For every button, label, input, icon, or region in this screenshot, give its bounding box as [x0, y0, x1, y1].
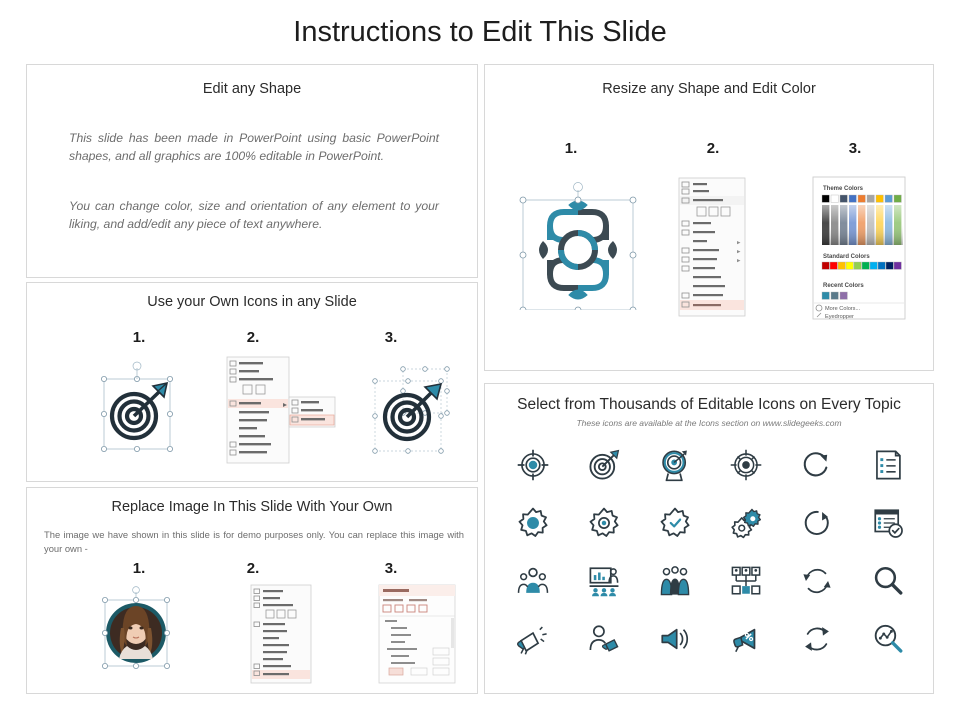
person-megaphone-icon[interactable] — [587, 622, 621, 656]
panel-use-own-icons: Use your Own Icons in any Slide 1. 2. 3. — [26, 282, 478, 482]
replace-image-step-1-number: 1. — [89, 560, 189, 577]
format-picture-pane-illustration — [371, 582, 463, 686]
org-chart-icon[interactable] — [729, 564, 763, 598]
refresh-arrow-icon[interactable] — [800, 448, 834, 482]
edit-shape-paragraph-1: This slide has been made in PowerPoint u… — [69, 129, 439, 166]
panel-icons-library: Select from Thousands of Editable Icons … — [484, 383, 934, 694]
panel-replace-image: Replace Image In This Slide With Your Ow… — [26, 487, 478, 694]
own-icons-step-3-number: 3. — [341, 329, 441, 346]
magnifier-chart-icon[interactable] — [871, 622, 905, 656]
context-menu-group-illustration — [223, 353, 341, 471]
sync-arrows-icon[interactable] — [800, 564, 834, 598]
target-stand-icon[interactable] — [658, 448, 692, 482]
svg-text:Standard Colors: Standard Colors — [823, 254, 870, 260]
panel-resize-shape-edit-color: Resize any Shape and Edit Color 1. 2. 3. — [484, 64, 934, 371]
crosshair-target-icon[interactable] — [729, 448, 763, 482]
svg-text:Recent Colors: Recent Colors — [823, 283, 864, 289]
own-icons-shot-selected-target — [79, 359, 197, 469]
resize-step-3-number: 3. — [805, 140, 905, 157]
gears-pair-icon[interactable] — [729, 506, 763, 540]
megaphone-percent-icon[interactable] — [729, 622, 763, 656]
refresh-circle-icon[interactable] — [800, 622, 834, 656]
context-menu-format-picture-illustration — [233, 582, 325, 686]
own-icons-step-1-number: 1. — [89, 329, 189, 346]
replace-image-shot-context-menu — [233, 582, 325, 686]
target-icon-selected-illustration — [79, 359, 197, 469]
resize-step-1-number: 1. — [521, 140, 621, 157]
resize-step-2-number: 2. — [663, 140, 763, 157]
portrait-photo-selected-illustration — [83, 584, 195, 684]
dartboard-arrow-icon[interactable] — [587, 448, 621, 482]
panel-subtitle-icons-library: These icons are available at the Icons s… — [485, 418, 933, 428]
svg-text:Theme Colors: Theme Colors — [823, 186, 864, 192]
own-icons-shot-ungrouped-target — [357, 359, 475, 469]
resize-shot-context-menu — [671, 174, 757, 320]
panel-title-resize-shape: Resize any Shape and Edit Color — [485, 81, 933, 97]
page-title: Instructions to Edit This Slide — [0, 16, 960, 49]
panel-edit-any-shape: Edit any Shape This slide has been made … — [26, 64, 478, 278]
svg-text:More Colors...: More Colors... — [825, 306, 861, 312]
svg-text:Eyedropper: Eyedropper — [825, 314, 854, 320]
panel-title-replace-image: Replace Image In This Slide With Your Ow… — [27, 499, 477, 515]
people-three-icon[interactable] — [658, 564, 692, 598]
replace-image-shot-format-pane — [371, 582, 463, 686]
context-menu-format-shape-illustration — [671, 174, 757, 320]
own-icons-step-2-number: 2. — [203, 329, 303, 346]
shape-selection-handles-illustration — [507, 176, 651, 310]
replace-image-step-3-number: 3. — [341, 560, 441, 577]
icons-grid — [497, 436, 923, 668]
target-icon-ungrouped-illustration — [357, 359, 475, 469]
gear-filled-icon[interactable] — [516, 506, 550, 540]
megaphone-icon[interactable] — [516, 622, 550, 656]
edit-shape-paragraph-2: You can change color, size and orientati… — [69, 197, 439, 234]
replace-image-note: The image we have shown in this slide is… — [44, 528, 464, 555]
checklist-check-icon[interactable] — [871, 506, 905, 540]
speaker-sound-icon[interactable] — [658, 622, 692, 656]
gear-check-icon[interactable] — [658, 506, 692, 540]
resize-shot-shape-handles — [507, 176, 651, 310]
replace-image-step-2-number: 2. — [203, 560, 303, 577]
checklist-icon[interactable] — [871, 448, 905, 482]
magnifier-icon[interactable] — [871, 564, 905, 598]
color-picker-illustration: Theme Colors Standard Colors Recent Colo… — [807, 174, 911, 322]
own-icons-shot-context-menu — [223, 353, 341, 471]
resize-shot-color-picker: Theme Colors Standard Colors Recent Colo… — [807, 174, 911, 322]
presentation-audience-icon[interactable] — [587, 564, 621, 598]
circular-arrow-icon[interactable] — [800, 506, 834, 540]
slide-canvas: Instructions to Edit This Slide Edit any… — [0, 0, 960, 720]
target-crosshair-icon[interactable] — [516, 448, 550, 482]
gear-outline-icon[interactable] — [587, 506, 621, 540]
panel-title-icons-library: Select from Thousands of Editable Icons … — [485, 396, 933, 414]
panel-title-own-icons: Use your Own Icons in any Slide — [27, 294, 477, 310]
replace-image-shot-portrait — [83, 584, 195, 684]
panel-title-edit-shape: Edit any Shape — [27, 81, 477, 97]
team-group-icon[interactable] — [516, 564, 550, 598]
